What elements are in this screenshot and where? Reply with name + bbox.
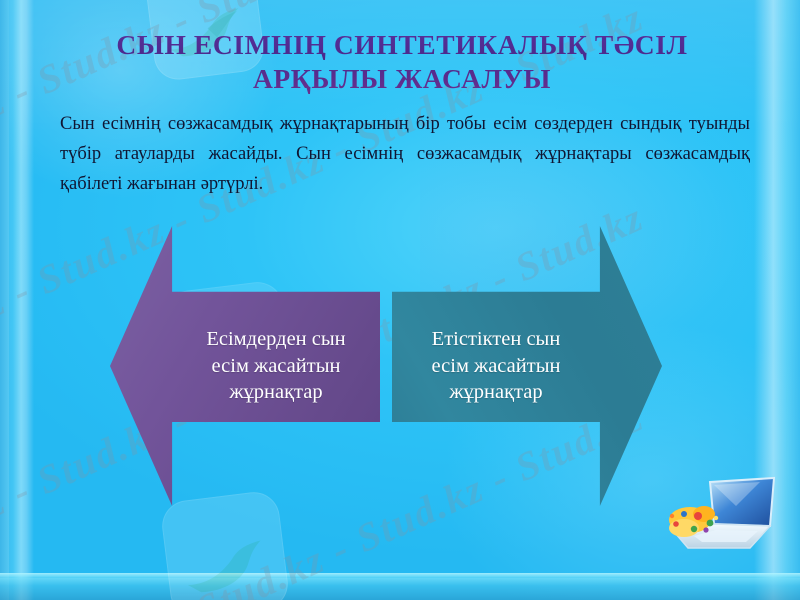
diagram-left-arrow: Есімдерден сын есім жасайтын жұрнақтар bbox=[110, 226, 380, 506]
laptop-icon bbox=[654, 476, 782, 562]
presentation-slide: Stud.kz - Stud.kz - Stud.kz - Stud.kz - … bbox=[0, 0, 800, 600]
slide-bottom-highlight bbox=[0, 573, 800, 578]
slide-left-edge bbox=[0, 0, 9, 600]
slide-left-band bbox=[0, 0, 34, 600]
stud-kz-logo-watermark bbox=[166, 496, 282, 600]
slide-body-text: Сын есімнің сөзжасамдық жұрнақтарының бі… bbox=[60, 110, 750, 200]
slide-title: СЫН ЕСІМНІҢ СИНТЕТИКАЛЫҚ ТӘСІЛ АРҚЫЛЫ ЖА… bbox=[52, 28, 752, 95]
diagram-left-arrow-label: Есімдерден сын есім жасайтын жұрнақтар bbox=[206, 326, 345, 406]
slide-bottom-band bbox=[0, 578, 800, 600]
diagram-right-arrow: Етістіктен сын есім жасайтын жұрнақтар bbox=[392, 226, 662, 506]
watermark-text: Stud.kz - Stud.kz - Stud.kz - Stud.kz - … bbox=[0, 393, 651, 600]
bird-icon bbox=[179, 531, 274, 600]
diagram-right-arrow-label: Етістіктен сын есім жасайтын жұрнақтар bbox=[432, 326, 561, 406]
